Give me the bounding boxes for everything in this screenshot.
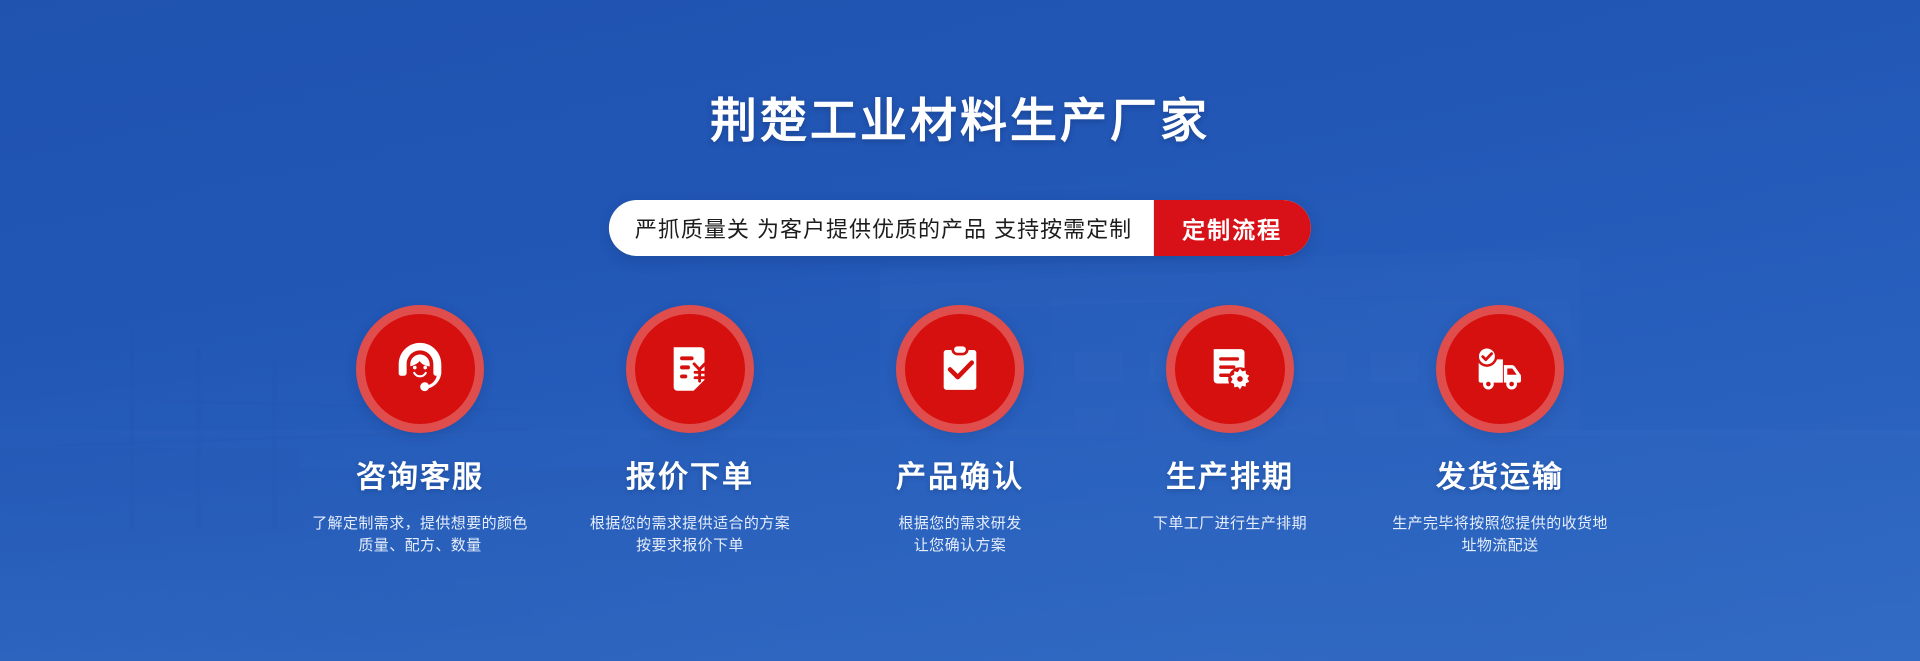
- step-icon-circle[interactable]: [1166, 305, 1294, 433]
- step-title: 发货运输: [1436, 463, 1564, 493]
- slogan-pill: 严抓质量关 为客户提供优质的产品 支持按需定制 定制流程: [609, 200, 1311, 256]
- step-item[interactable]: 报价下单 根据您的需求提供适合的方案 按要求报价下单: [565, 305, 815, 557]
- step-icon-circle[interactable]: [896, 305, 1024, 433]
- headset-support-icon: [389, 338, 451, 400]
- step-description: 根据您的需求研发 让您确认方案: [898, 513, 1021, 557]
- page-title: 荆楚工业材料生产厂家: [0, 97, 1920, 144]
- step-description-line: 下单工厂进行生产排期: [1153, 513, 1307, 535]
- step-description: 根据您的需求提供适合的方案 按要求报价下单: [590, 513, 790, 557]
- step-icon-circle[interactable]: [356, 305, 484, 433]
- custom-process-button[interactable]: 定制流程: [1154, 200, 1311, 256]
- step-description-line: 质量、配方、数量: [312, 535, 528, 557]
- step-description-line: 生产完毕将按照您提供的收货地: [1392, 513, 1608, 535]
- step-title: 生产排期: [1166, 463, 1294, 493]
- clipboard-check-icon: [931, 340, 989, 398]
- step-description: 生产完毕将按照您提供的收货地 址物流配送: [1392, 513, 1608, 557]
- step-description-line: 根据您的需求研发: [898, 513, 1021, 535]
- step-description-line: 址物流配送: [1392, 535, 1608, 557]
- promo-banner: 荆楚工业材料生产厂家 严抓质量关 为客户提供优质的产品 支持按需定制 定制流程: [0, 0, 1920, 661]
- step-item[interactable]: 发货运输 生产完毕将按照您提供的收货地 址物流配送: [1375, 305, 1625, 557]
- step-title: 咨询客服: [356, 463, 484, 493]
- quote-invoice-yuan-icon: [661, 340, 719, 398]
- step-description: 了解定制需求，提供想要的颜色 质量、配方、数量: [312, 513, 528, 557]
- slogan-text: 严抓质量关 为客户提供优质的产品 支持按需定制: [635, 212, 1154, 244]
- process-steps: 咨询客服 了解定制需求，提供想要的颜色 质量、配方、数量: [295, 305, 1625, 557]
- step-description: 下单工厂进行生产排期: [1153, 513, 1307, 535]
- step-description-line: 根据您的需求提供适合的方案: [590, 513, 790, 535]
- step-icon-circle[interactable]: [626, 305, 754, 433]
- step-icon-circle[interactable]: [1436, 305, 1564, 433]
- step-title: 报价下单: [626, 463, 754, 493]
- step-description-line: 了解定制需求，提供想要的颜色: [312, 513, 528, 535]
- document-gear-icon: [1201, 340, 1259, 398]
- step-description-line: 让您确认方案: [898, 535, 1021, 557]
- step-title: 产品确认: [896, 463, 1024, 493]
- step-item[interactable]: 生产排期 下单工厂进行生产排期: [1105, 305, 1355, 557]
- delivery-truck-check-icon: [1469, 338, 1531, 400]
- step-description-line: 按要求报价下单: [590, 535, 790, 557]
- step-item[interactable]: 咨询客服 了解定制需求，提供想要的颜色 质量、配方、数量: [295, 305, 545, 557]
- step-item[interactable]: 产品确认 根据您的需求研发 让您确认方案: [835, 305, 1085, 557]
